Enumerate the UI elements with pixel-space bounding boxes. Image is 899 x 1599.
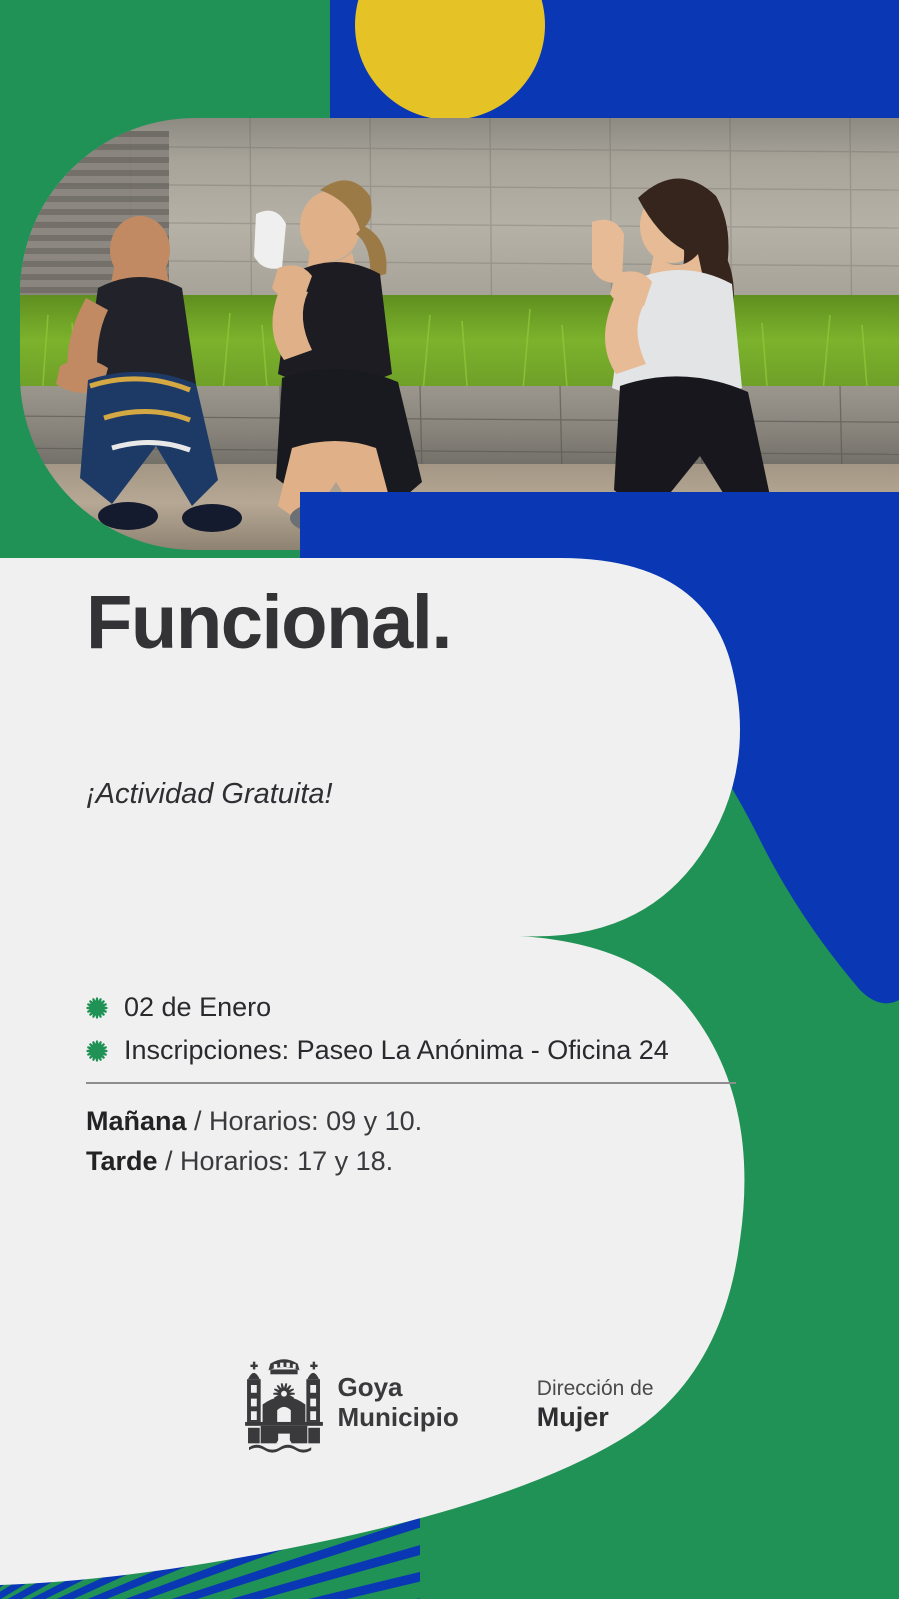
schedule-row-afternoon: Tarde / Horarios: 17 y 18.: [86, 1146, 786, 1177]
detail-registration-text: Inscripciones: Paseo La Anónima - Oficin…: [124, 1035, 669, 1066]
mujer-line2: Mujer: [537, 1402, 654, 1433]
schedule-row-morning: Mañana / Horarios: 09 y 10.: [86, 1106, 786, 1137]
page-title: Funcional.: [86, 585, 451, 661]
page-subtitle: ¡Actividad Gratuita!: [86, 778, 333, 811]
schedule-afternoon-value: / Horarios: 17 y 18.: [158, 1146, 394, 1176]
detail-row-registration: Inscripciones: Paseo La Anónima - Oficin…: [86, 1035, 786, 1066]
goya-municipio-logo: Goya Municipio: [245, 1350, 458, 1455]
starburst-icon: [86, 997, 108, 1019]
starburst-icon: [86, 1040, 108, 1062]
detail-row-date: 02 de Enero: [86, 992, 786, 1023]
cathedral-icon: [245, 1350, 323, 1455]
schedule-afternoon-label: Tarde: [86, 1146, 158, 1176]
goya-line1: Goya: [337, 1373, 458, 1402]
direccion-mujer-logo: Dirección de Mujer: [537, 1350, 654, 1433]
schedule-morning-label: Mañana: [86, 1106, 187, 1136]
section-divider: [86, 1082, 736, 1084]
poster-canvas: Funcional. ¡Actividad Gratuita! 02 de En…: [0, 0, 899, 1599]
mujer-line1: Dirección de: [537, 1376, 654, 1402]
goya-line2: Municipio: [337, 1403, 458, 1432]
goya-municipio-wordmark: Goya Municipio: [337, 1373, 458, 1431]
schedule-morning-value: / Horarios: 09 y 10.: [187, 1106, 423, 1136]
footer-logos: Goya Municipio Dirección de Mujer: [0, 1350, 899, 1490]
detail-date-text: 02 de Enero: [124, 992, 271, 1023]
details-block: 02 de Enero Inscripciones: Paseo La Anón…: [86, 992, 786, 1186]
